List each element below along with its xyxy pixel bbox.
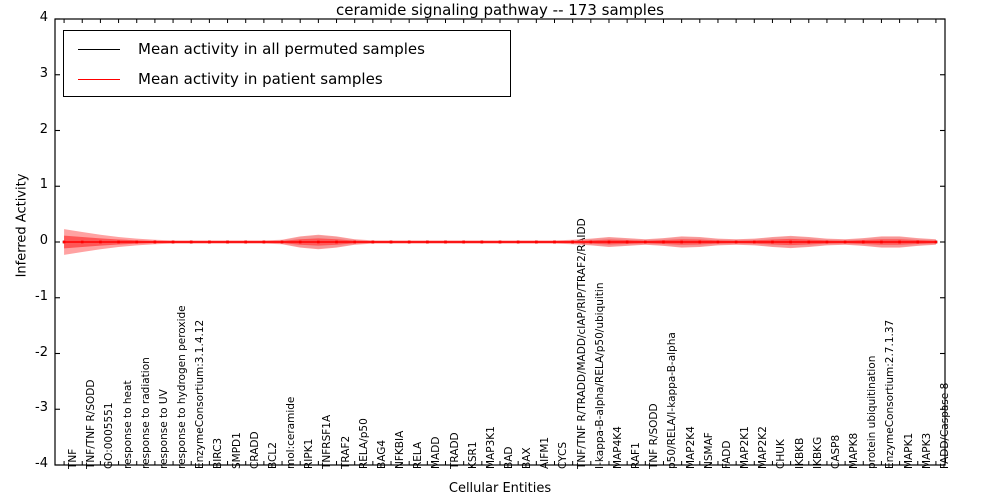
legend-swatch-patient — [78, 79, 120, 80]
series-data-point — [281, 241, 284, 244]
series-data-point — [135, 241, 138, 244]
legend-label-patient: Mean activity in patient samples — [138, 72, 383, 87]
legend-entry-permuted: Mean activity in all permuted samples — [64, 34, 510, 64]
series-data-point — [426, 241, 429, 244]
series-data-point — [717, 241, 720, 244]
chart-legend: Mean activity in all permuted samples Me… — [63, 30, 511, 97]
series-data-point — [862, 241, 865, 244]
series-data-point — [844, 241, 847, 244]
series-data-point — [372, 241, 375, 244]
series-data-point — [553, 241, 556, 244]
series-data-point — [353, 241, 356, 244]
series-data-point — [335, 241, 338, 244]
series-data-point — [807, 241, 810, 244]
series-data-point — [226, 241, 229, 244]
series-data-point — [81, 241, 84, 244]
series-data-point — [590, 241, 593, 244]
legend-swatch-permuted — [78, 49, 120, 50]
series-data-point — [299, 241, 302, 244]
series-data-point — [935, 241, 938, 244]
series-data-point — [680, 241, 683, 244]
legend-label-permuted: Mean activity in all permuted samples — [138, 42, 425, 57]
series-data-point — [771, 241, 774, 244]
legend-entry-patient: Mean activity in patient samples — [64, 64, 510, 94]
series-data-point — [662, 241, 665, 244]
series-data-point — [172, 241, 175, 244]
series-data-point — [408, 241, 411, 244]
series-data-point — [898, 241, 901, 244]
series-data-point — [190, 241, 193, 244]
series-data-point — [317, 241, 320, 244]
series-data-point — [880, 241, 883, 244]
series-data-point — [735, 241, 738, 244]
series-data-point — [535, 241, 538, 244]
chart-figure: ceramide signaling pathway -- 173 sample… — [0, 0, 1000, 500]
series-data-point — [444, 241, 447, 244]
series-data-point — [117, 241, 120, 244]
series-data-point — [390, 241, 393, 244]
series-data-point — [263, 241, 266, 244]
series-data-point — [789, 241, 792, 244]
series-data-point — [916, 241, 919, 244]
series-data-point — [826, 241, 829, 244]
series-data-point — [644, 241, 647, 244]
series-data-point — [99, 241, 102, 244]
series-data-point — [154, 241, 157, 244]
series-data-point — [626, 241, 629, 244]
series-data-point — [571, 241, 574, 244]
series-data-point — [608, 241, 611, 244]
series-data-point — [517, 241, 520, 244]
series-data-point — [499, 241, 502, 244]
series-data-point — [208, 241, 211, 244]
series-data-point — [63, 241, 66, 244]
series-data-point — [462, 241, 465, 244]
series-data-point — [699, 241, 702, 244]
series-data-point — [481, 241, 484, 244]
series-data-point — [244, 241, 247, 244]
series-data-point — [753, 241, 756, 244]
